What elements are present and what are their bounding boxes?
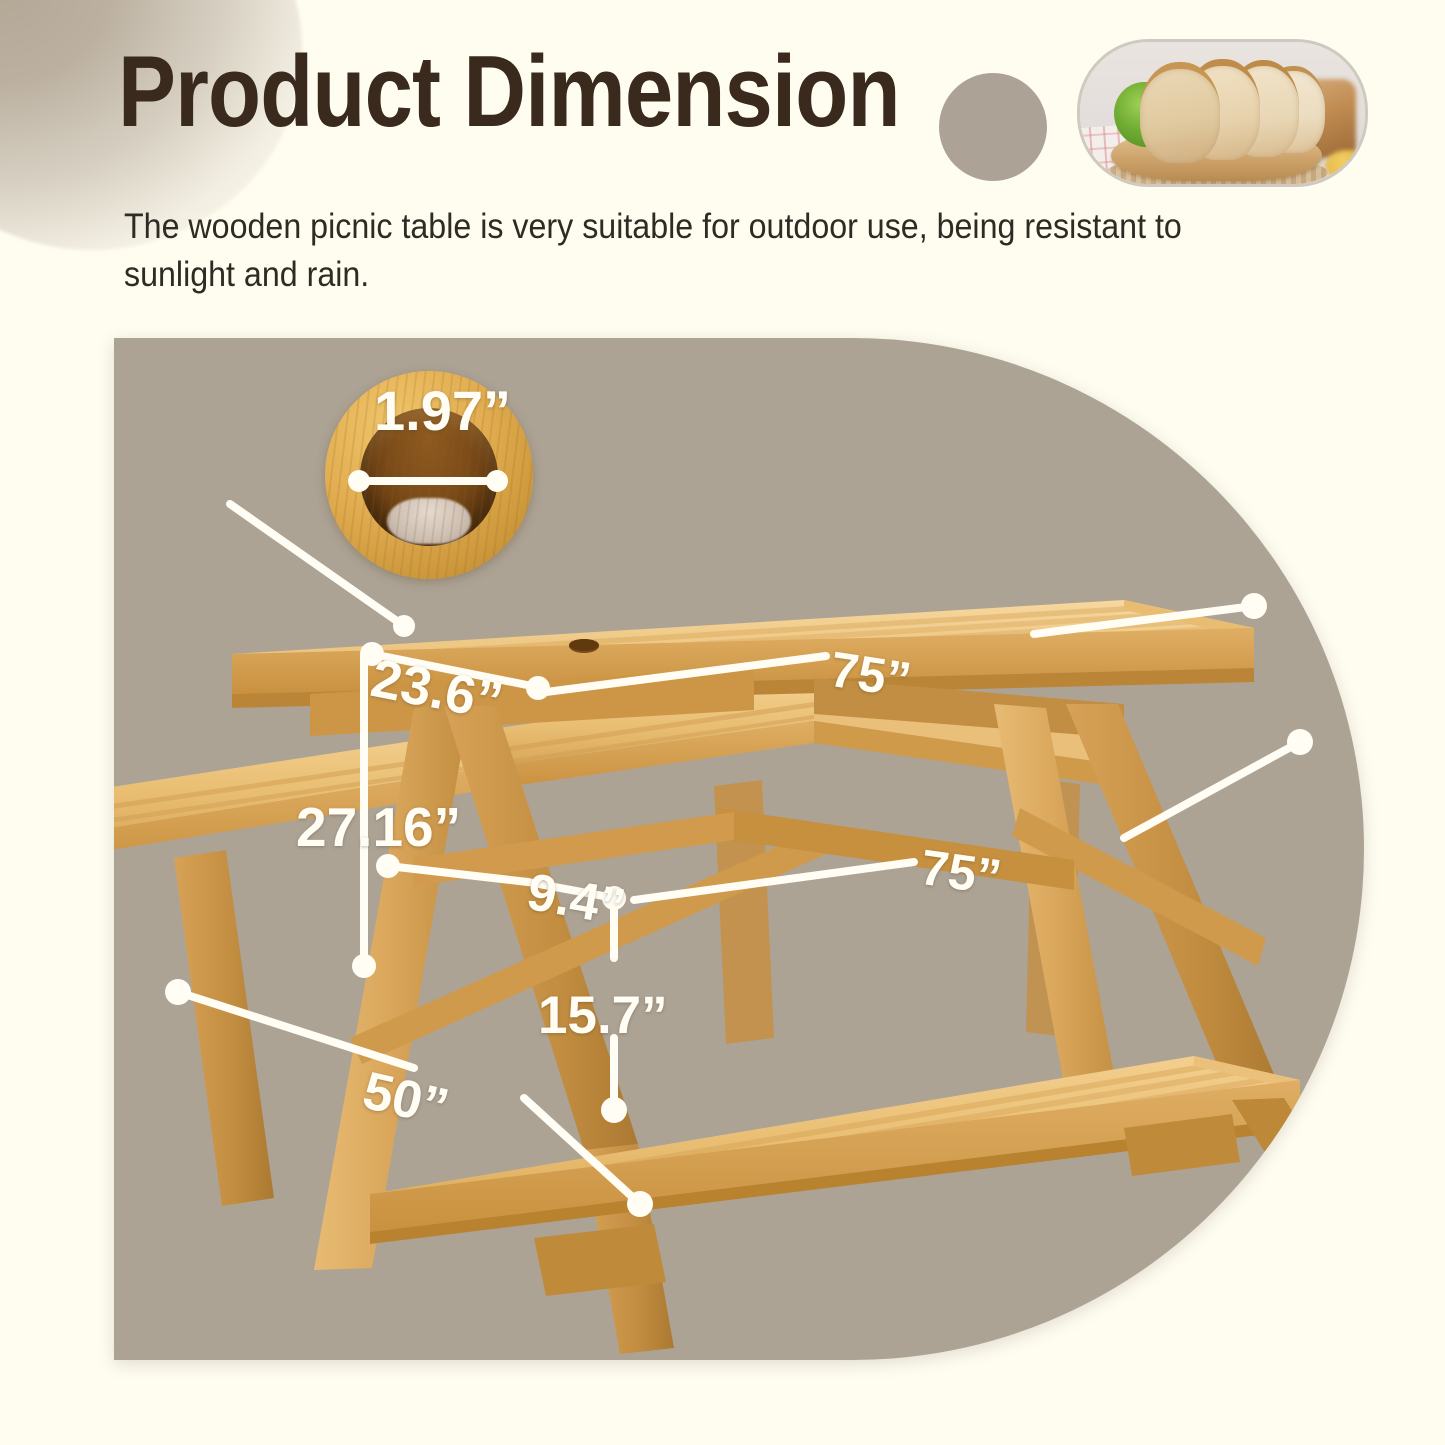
corn-kernels [1325, 150, 1368, 181]
dimension-label-tabletop-length: 75” [826, 640, 914, 709]
endpoint-dot [1287, 729, 1313, 755]
front-bench [370, 1056, 1300, 1296]
decorative-title-circle [939, 73, 1047, 181]
endpoint-dot [526, 676, 550, 700]
endpoint-dot [601, 1097, 627, 1123]
bread-slice [1140, 62, 1220, 163]
dimension-label-bench-height: 15.7” [538, 985, 668, 1046]
endpoint-dot [1241, 593, 1267, 619]
endpoint-dot [165, 979, 191, 1005]
page-title: Product Dimension [118, 38, 900, 147]
dimension-label-bench-length: 75” [917, 838, 1005, 907]
page-subtitle: The wooden picnic table is very suitable… [124, 203, 1191, 300]
endpoint-dot [393, 615, 415, 637]
dimension-label-hole-diameter: 1.97” [374, 378, 511, 443]
bread-photo-thumbnail [1077, 39, 1368, 187]
dimension-label-table-height: 27.16” [296, 795, 461, 859]
product-dimension-infographic: Product Dimension The wooden picnic tabl… [0, 0, 1445, 1445]
endpoint-dot [627, 1191, 653, 1217]
endpoint-dot [352, 954, 376, 978]
